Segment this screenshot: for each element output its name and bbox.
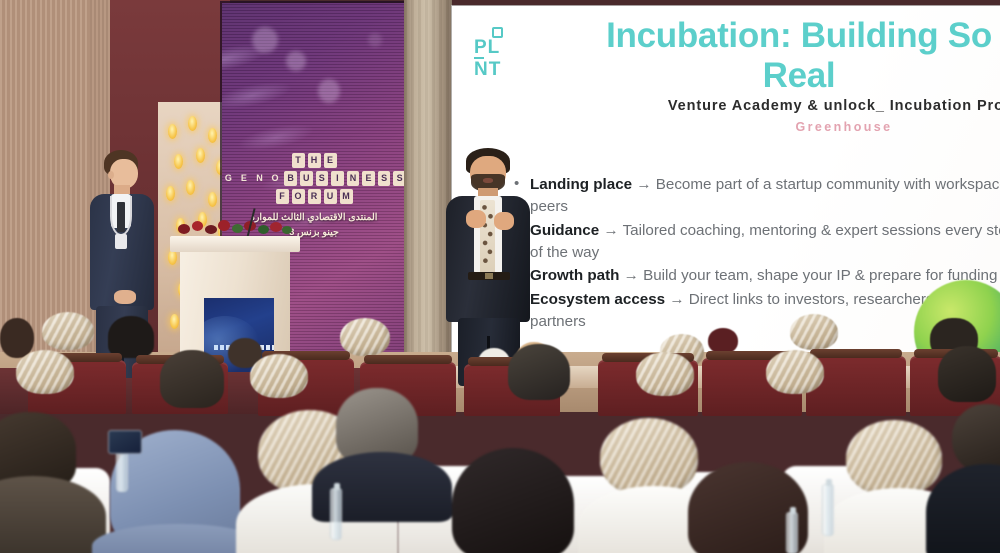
banner-tile: T — [292, 153, 305, 168]
banner-tile: I — [331, 171, 344, 186]
plnt-logo: PL NT — [470, 24, 530, 68]
left-hand — [466, 210, 486, 228]
hijab — [452, 448, 574, 553]
head — [160, 350, 224, 408]
head — [0, 318, 34, 358]
banner-forum-row: F O R U M — [222, 189, 406, 204]
water-bottle — [330, 488, 342, 540]
head — [508, 344, 570, 400]
bokeh-dot — [286, 51, 306, 71]
slide-title: Incubation: Building So Real — [542, 16, 1000, 96]
slide-subtitle: Venture Academy & unlock_ Incubation Pro… — [622, 98, 1000, 114]
banner-tile: E — [324, 153, 337, 168]
lanyard — [110, 196, 132, 236]
bullet-arrow-icon: → — [603, 222, 618, 239]
list-item: Growth path → Build your team, shape you… — [514, 265, 1000, 287]
bokeh-dot — [368, 33, 382, 47]
banner-the-row: T H E — [222, 153, 406, 168]
bullet-text: Tailored coaching, mentoring & expert se… — [530, 222, 1000, 261]
podium-top — [170, 236, 300, 252]
omani-turban — [42, 312, 94, 350]
omani-turban — [250, 354, 308, 398]
water-bottle — [786, 512, 798, 553]
slide-title-line1: Incubation: Building So — [606, 16, 992, 55]
mouth — [483, 178, 493, 183]
omani-turban — [846, 420, 942, 496]
banner-tile: H — [308, 153, 321, 168]
logo-underscore-icon — [474, 57, 484, 59]
bullet-lead: Growth path — [530, 267, 619, 284]
smartphone — [108, 430, 142, 454]
bullet-text: Build your team, shape your IP & prepare… — [643, 267, 997, 284]
banner-tile: N — [347, 171, 360, 186]
banner-geno-business-row: G E N O B U S I N E S S — [222, 171, 406, 186]
ear — [108, 171, 114, 179]
banner-tile: F — [276, 189, 289, 204]
omani-turban — [766, 350, 824, 394]
head-military-cap — [108, 316, 154, 358]
water-bottle — [822, 484, 834, 536]
conference-photo-scene: T H E G E N O B U S I N E S S F O R — [0, 0, 1000, 553]
banner-tile: S — [378, 171, 391, 186]
omani-turban — [790, 314, 838, 350]
banner-tile: U — [324, 189, 337, 204]
bokeh-dot — [252, 27, 278, 53]
head — [938, 346, 996, 402]
logo-wordmark: PL NT — [474, 37, 530, 81]
banner-letter: G — [222, 171, 235, 186]
list-item: Guidance → Tailored coaching, mentoring … — [514, 220, 1000, 265]
bokeh-dot — [318, 79, 340, 103]
banner-letter: O — [269, 171, 282, 186]
bullet-arrow-icon: → — [636, 176, 651, 193]
banner-tile: M — [340, 189, 353, 204]
bullet-lead: Guidance — [530, 222, 599, 239]
omani-turban — [16, 350, 74, 394]
banner-letter: N — [253, 171, 266, 186]
banner-tile: E — [362, 171, 375, 186]
banner-tile: S — [316, 171, 329, 186]
slide-title-line2: Real — [542, 56, 1000, 96]
list-item: Landing place → Become part of a startup… — [514, 174, 1000, 219]
banner-letter: E — [238, 171, 251, 186]
audience — [0, 300, 1000, 553]
belt-buckle — [485, 273, 493, 279]
banner-tile: B — [284, 171, 297, 186]
bullet-arrow-icon: → — [624, 267, 639, 284]
banner-tile: R — [308, 189, 321, 204]
right-hand — [494, 212, 514, 230]
banner-tile: O — [292, 189, 305, 204]
slide-subtitle-secondary: Greenhouse — [622, 120, 1000, 134]
name-badge — [115, 234, 127, 249]
banner-tile: U — [300, 171, 313, 186]
omani-turban — [600, 418, 698, 496]
bullet-lead: Landing place — [530, 176, 632, 193]
omani-turban — [636, 352, 694, 396]
